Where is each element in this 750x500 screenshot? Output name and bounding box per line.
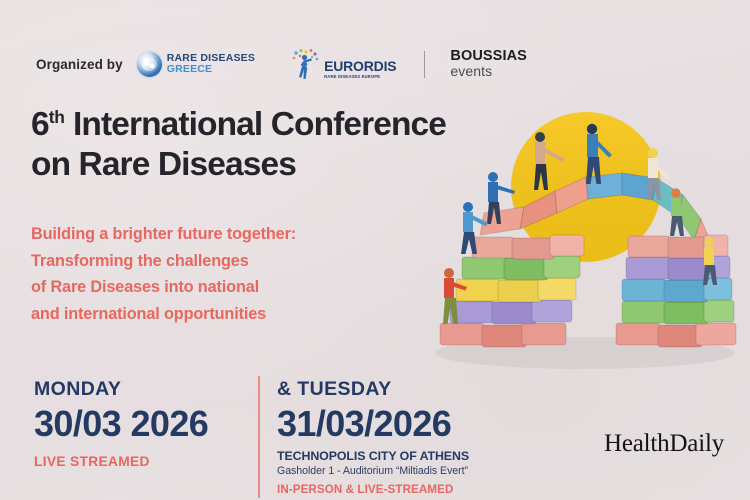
eurordis-wordmark: EURORDIS RARE DISEASES EUROPE xyxy=(324,59,396,80)
venue-name: TECHNOPOLIS CITY OF ATHENS xyxy=(277,449,469,463)
organized-by-label: Organized by xyxy=(36,57,123,72)
boussias-line2: events xyxy=(450,64,527,78)
healthdaily-logo: HealthDaily xyxy=(604,430,724,458)
rdg-line2: GREECE xyxy=(167,64,255,75)
subtitle-line-3: of Rare Diseases into national xyxy=(31,274,361,301)
eurordis-name: EURORDIS xyxy=(324,59,396,73)
page-title: 6th International Conference on Rare Dis… xyxy=(31,105,531,184)
date-block-day-one: MONDAY 30/03 2026 LIVE STREAMED xyxy=(34,378,208,469)
logo-divider xyxy=(424,51,425,78)
logo-rare-diseases-greece: RARE DISEASES GREECE xyxy=(137,52,255,77)
dates-divider xyxy=(258,376,260,498)
eurordis-subtitle: RARE DISEASES EUROPE xyxy=(324,74,396,79)
day-one-mode-badge: LIVE STREAMED xyxy=(34,454,208,469)
subtitle-line-1: Building a brighter future together: xyxy=(31,221,361,248)
day-one-date: 30/03 2026 xyxy=(34,402,208,445)
title-line2: on Rare Diseases xyxy=(31,146,296,183)
day-two-mode-badge: IN-PERSON & LIVE-STREAMED xyxy=(277,483,469,496)
title-ordinal-suffix: th xyxy=(49,107,65,127)
conference-poster: Organized by RARE DISEASES GREECE xyxy=(0,0,750,500)
day-two-weekday: & TUESDAY xyxy=(277,378,469,401)
day-two-date: 31/03/2026 xyxy=(277,402,469,445)
rare-diseases-greece-wordmark: RARE DISEASES GREECE xyxy=(167,53,255,74)
subtitle-line-2: Transforming the challenges xyxy=(31,248,361,275)
person-figure-icon xyxy=(291,48,321,80)
title-ordinal: 6 xyxy=(31,106,49,143)
day-one-weekday: MONDAY xyxy=(34,378,208,401)
organizers-row: Organized by RARE DISEASES GREECE xyxy=(36,48,527,80)
logo-boussias-events: BOUSSIAS events xyxy=(450,49,527,78)
page-subtitle: Building a brighter future together: Tra… xyxy=(31,221,361,327)
globe-icon xyxy=(137,52,162,77)
venue-detail: Gasholder 1 - Auditorium “Miltiadis Ever… xyxy=(277,465,469,477)
date-block-day-two: & TUESDAY 31/03/2026 TECHNOPOLIS CITY OF… xyxy=(277,378,469,496)
title-line1-rest: International Conference xyxy=(65,106,446,143)
subtitle-line-4: and international opportunities xyxy=(31,301,361,328)
logo-eurordis: EURORDIS RARE DISEASES EUROPE xyxy=(291,48,396,80)
boussias-line1: BOUSSIAS xyxy=(450,49,527,64)
